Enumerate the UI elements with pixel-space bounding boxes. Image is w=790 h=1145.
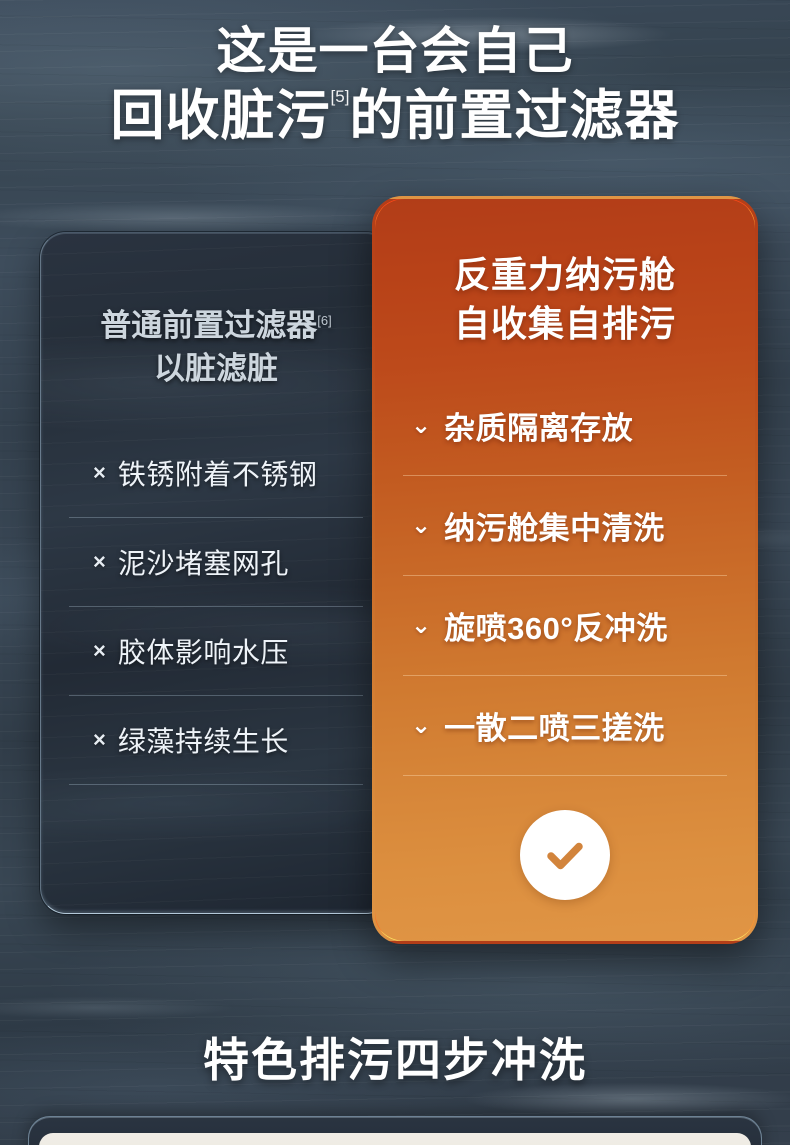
check-mark-icon: ⌄ [411, 414, 431, 438]
cross-mark-icon: × [93, 729, 106, 751]
badge-container [375, 810, 755, 900]
list-item-label: 绿藻持续生长 [118, 720, 289, 760]
section-title-bottom: 特色排污四步冲洗 [0, 1024, 790, 1090]
cross-mark-icon: × [93, 640, 106, 662]
next-section-card-inner [39, 1133, 751, 1145]
list-item: ⌄ 一散二喷三搓洗 [403, 676, 727, 776]
check-mark-icon: ⌄ [411, 714, 431, 738]
header-line-2: 回收脏污[5]的前置过滤器 [111, 85, 680, 149]
header-line-1: 这是一台会自己 [217, 22, 574, 81]
cross-mark-icon: × [93, 551, 106, 573]
list-item: × 胶体影响水压 [69, 607, 363, 696]
header-line-2-text-a: 回收脏污 [111, 86, 331, 146]
left-card-title: 普通前置过滤器[6] 以脏滤脏 [41, 305, 391, 391]
page-header: 这是一台会自己 回收脏污[5]的前置过滤器 [0, 0, 790, 170]
list-item-label: 旋喷360°反冲洗 [444, 603, 668, 648]
list-item: ⌄ 旋喷360°反冲洗 [403, 576, 727, 676]
right-card-title: 反重力纳污舱 自收集自排污 [375, 251, 755, 348]
right-card-feature-list: ⌄ 杂质隔离存放 ⌄ 纳污舱集中清洗 ⌄ 旋喷360°反冲洗 ⌄ 一散二喷三搓洗 [375, 376, 755, 776]
left-card-title-line-1: 普通前置过滤器[6] [41, 305, 391, 348]
list-item-label: 杂质隔离存放 [444, 403, 633, 448]
left-card-drawback-list: × 铁锈附着不锈钢 × 泥沙堵塞网孔 × 胶体影响水压 × 绿藻持续生长 [41, 429, 391, 785]
cross-mark-icon: × [93, 462, 106, 484]
header-footnote-marker: [5] [331, 87, 350, 106]
list-item: ⌄ 纳污舱集中清洗 [403, 476, 727, 576]
check-circle-icon [520, 810, 610, 900]
list-item-label: 纳污舱集中清洗 [444, 503, 665, 548]
header-line-2-text-b: 的前置过滤器 [349, 86, 679, 146]
list-item-label: 胶体影响水压 [118, 631, 289, 671]
list-item-label: 铁锈附着不锈钢 [118, 453, 318, 493]
list-item-label: 一散二喷三搓洗 [444, 703, 665, 748]
check-mark-icon: ⌄ [411, 514, 431, 538]
list-item: ⌄ 杂质隔离存放 [403, 376, 727, 476]
list-item: × 泥沙堵塞网孔 [69, 518, 363, 607]
right-card-title-line-1: 反重力纳污舱 [375, 251, 755, 300]
comparison-card-product-feature: 反重力纳污舱 自收集自排污 ⌄ 杂质隔离存放 ⌄ 纳污舱集中清洗 ⌄ 旋喷360… [372, 196, 758, 944]
list-item-label: 泥沙堵塞网孔 [118, 542, 289, 582]
check-mark-icon: ⌄ [411, 614, 431, 638]
left-card-title-line-2: 以脏滤脏 [41, 348, 391, 391]
list-item: × 绿藻持续生长 [69, 696, 363, 785]
list-item: × 铁锈附着不锈钢 [69, 429, 363, 518]
left-card-title-text: 普通前置过滤器 [100, 308, 317, 343]
promo-page: 这是一台会自己 回收脏污[5]的前置过滤器 普通前置过滤器[6] 以脏滤脏 × … [0, 0, 790, 1145]
comparison-card-ordinary-filter: 普通前置过滤器[6] 以脏滤脏 × 铁锈附着不锈钢 × 泥沙堵塞网孔 × 胶体影… [40, 232, 392, 914]
left-card-footnote-marker: [6] [317, 313, 331, 328]
next-section-card [28, 1116, 762, 1145]
right-card-title-line-2: 自收集自排污 [375, 300, 755, 349]
